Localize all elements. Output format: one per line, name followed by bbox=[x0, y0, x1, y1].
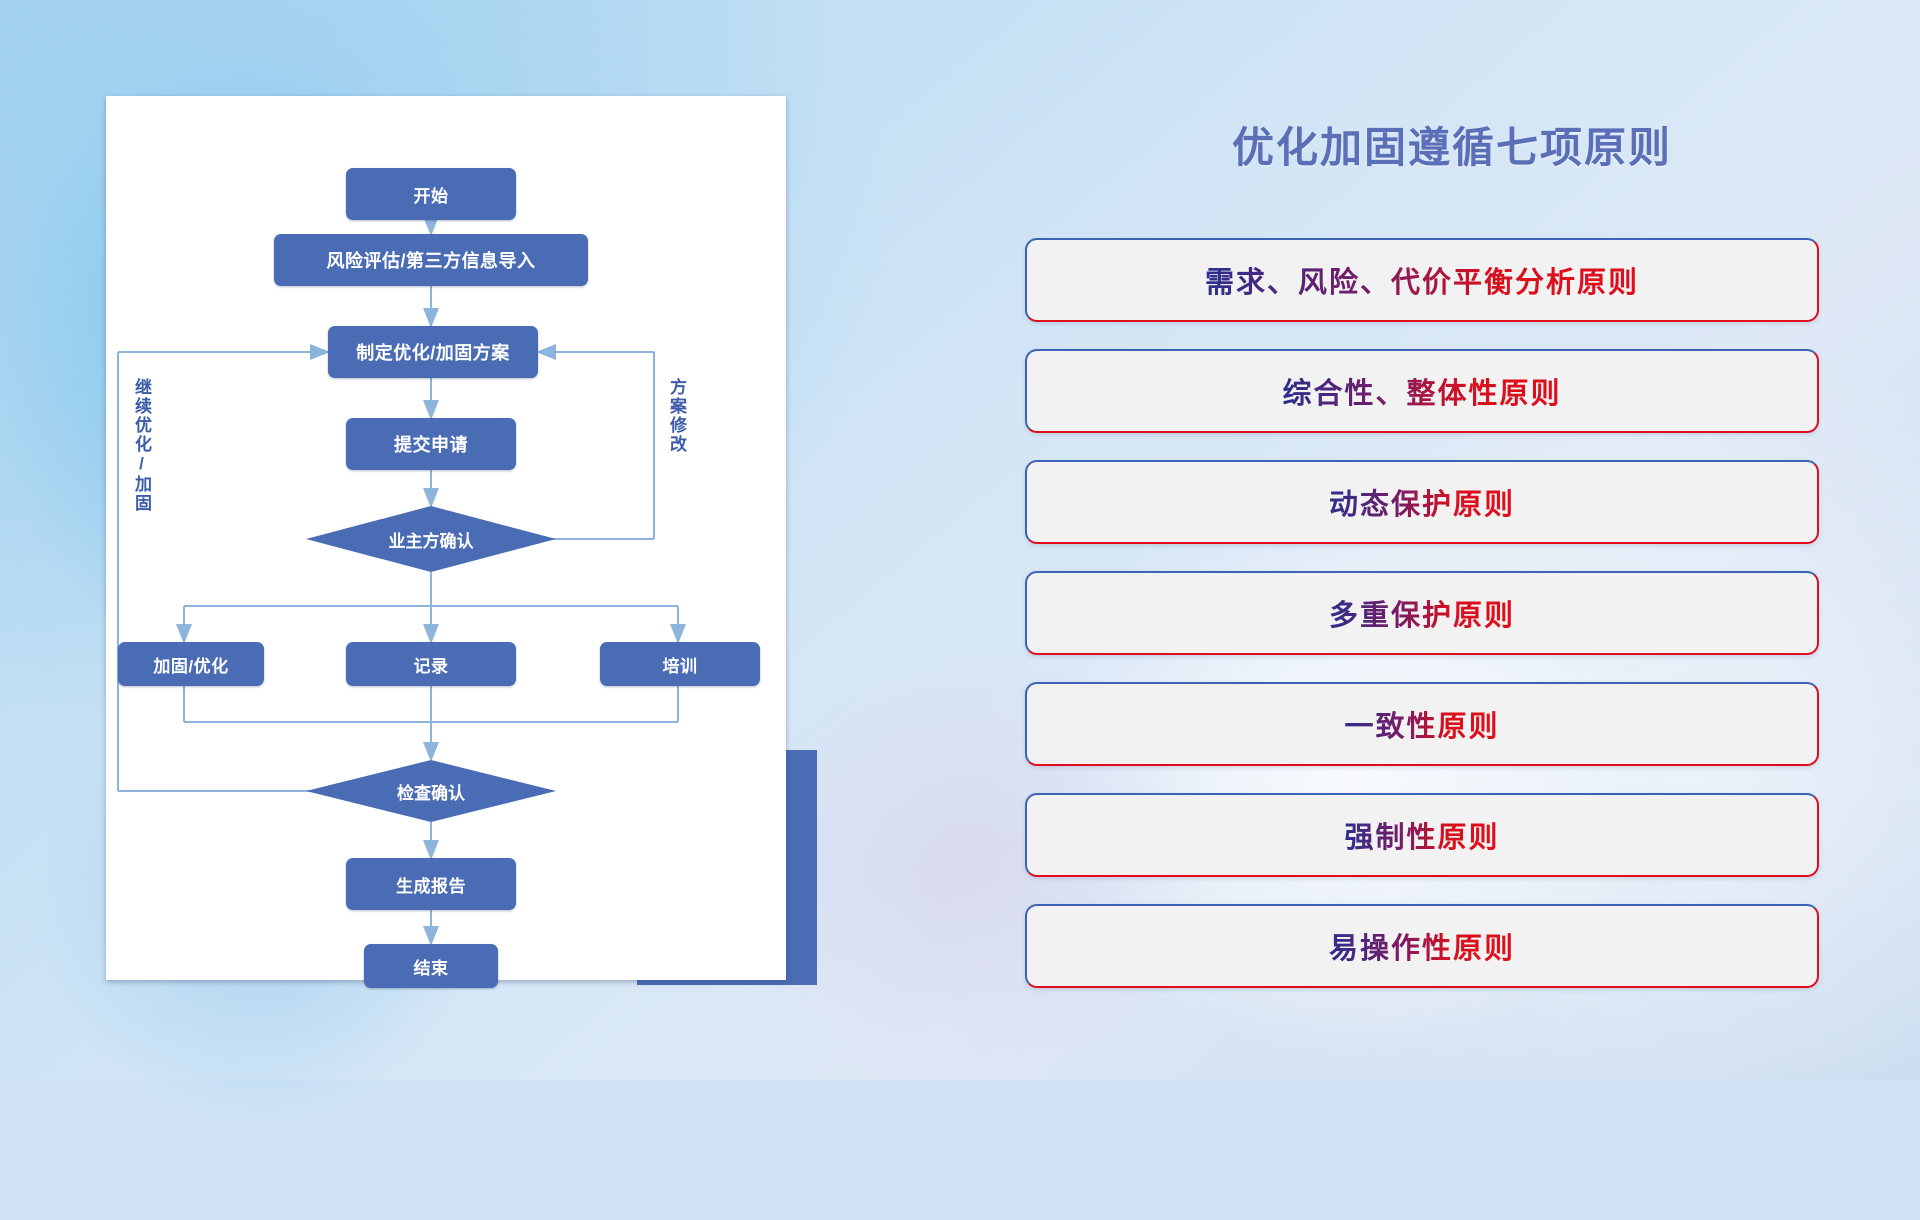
flow-edge-label-continue-optimize: 继续优化/加固 bbox=[133, 378, 150, 513]
flow-node-label: 加固/优化 bbox=[153, 652, 228, 677]
page-title: 优化加固遵循七项原则 bbox=[1152, 114, 1752, 175]
flowchart-stage: 开始 风险评估/第三方信息导入 制定优化/加固方案 提交申请 业主方确认 加固/… bbox=[106, 96, 786, 980]
flow-edge-label-plan-revision: 方案修改 bbox=[668, 378, 685, 454]
principle-card-1[interactable]: 需求、风险、代价平衡分析原则 bbox=[1025, 238, 1819, 322]
flow-node-label: 生成报告 bbox=[396, 872, 466, 897]
principle-card-6[interactable]: 强制性原则 bbox=[1025, 793, 1819, 877]
principle-card-7[interactable]: 易操作性原则 bbox=[1025, 904, 1819, 988]
principle-label: 一致性原则 bbox=[1344, 703, 1499, 745]
flow-node-label: 制定优化/加固方案 bbox=[356, 339, 510, 365]
flow-node-label: 检查确认 bbox=[397, 779, 465, 804]
principles-column: 优化加固遵循七项原则 需求、风险、代价平衡分析原则 综合性、整体性原则 动态保护… bbox=[1020, 96, 1850, 996]
principle-label: 综合性、整体性原则 bbox=[1282, 370, 1561, 412]
principle-card-4[interactable]: 多重保护原则 bbox=[1025, 571, 1819, 655]
flow-node-label: 培训 bbox=[663, 652, 698, 677]
flow-node-end[interactable]: 结束 bbox=[364, 944, 498, 988]
principle-card-5[interactable]: 一致性原则 bbox=[1025, 682, 1819, 766]
flow-node-record[interactable]: 记录 bbox=[346, 642, 516, 686]
flow-node-label: 结束 bbox=[414, 954, 449, 979]
principle-label: 多重保护原则 bbox=[1329, 592, 1515, 634]
flow-node-submit[interactable]: 提交申请 bbox=[346, 418, 516, 470]
principle-label: 需求、风险、代价平衡分析原则 bbox=[1205, 259, 1639, 301]
flow-node-training[interactable]: 培训 bbox=[600, 642, 760, 686]
principle-label: 易操作性原则 bbox=[1329, 925, 1515, 967]
principle-label: 动态保护原则 bbox=[1329, 481, 1515, 523]
flow-node-label: 记录 bbox=[414, 652, 449, 677]
principle-card-3[interactable]: 动态保护原则 bbox=[1025, 460, 1819, 544]
flow-node-label: 提交申请 bbox=[394, 431, 468, 457]
flow-node-reinforce[interactable]: 加固/优化 bbox=[118, 642, 264, 686]
flow-node-plan[interactable]: 制定优化/加固方案 bbox=[328, 326, 538, 378]
flow-node-label: 风险评估/第三方信息导入 bbox=[327, 247, 536, 273]
flow-node-start[interactable]: 开始 bbox=[346, 168, 516, 220]
principle-card-2[interactable]: 综合性、整体性原则 bbox=[1025, 349, 1819, 433]
flow-node-risk-assessment[interactable]: 风险评估/第三方信息导入 bbox=[274, 234, 588, 286]
principle-label: 强制性原则 bbox=[1344, 814, 1499, 856]
flow-node-label: 开始 bbox=[414, 182, 449, 207]
flow-node-label: 业主方确认 bbox=[389, 527, 474, 552]
flowchart-panel: 开始 风险评估/第三方信息导入 制定优化/加固方案 提交申请 业主方确认 加固/… bbox=[106, 96, 786, 980]
flow-node-report[interactable]: 生成报告 bbox=[346, 858, 516, 910]
